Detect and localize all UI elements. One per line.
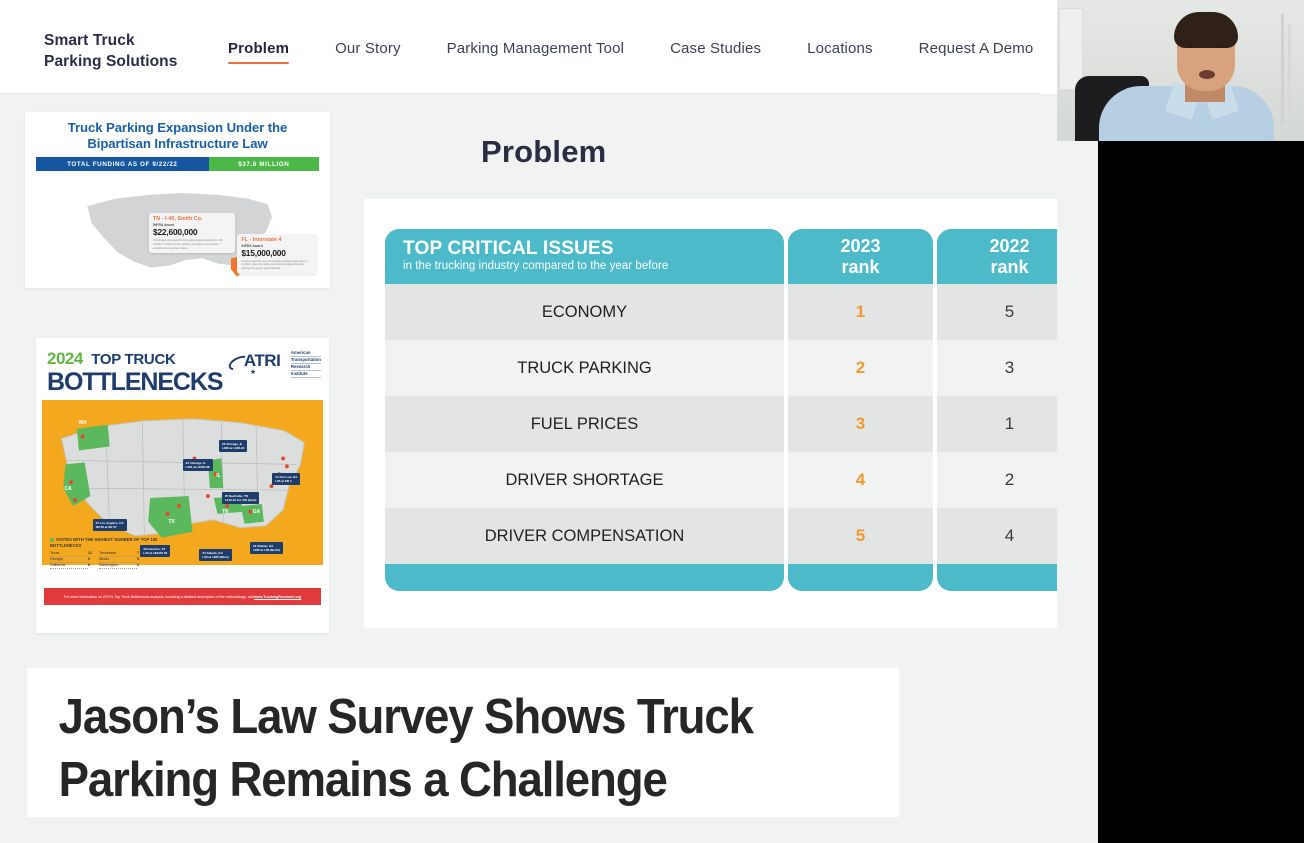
callout-tn-state: TN - I-40, Smith Co. [153, 216, 231, 222]
table-header-title: TOP CRITICAL ISSUES [403, 238, 784, 259]
presenter-mouth [1199, 70, 1215, 79]
legend-count-illinois: 5 [137, 557, 139, 561]
table-row: TRUCK PARKING [385, 340, 784, 396]
header-2023-word: rank [841, 257, 879, 278]
nav-item-parking-management-tool[interactable]: Parking Management Tool [447, 40, 624, 64]
table-row: ECONOMY [385, 284, 784, 340]
pin-6-detail: I-290 at I-90/I-94 [222, 446, 244, 450]
callout-fl-state: FL - Interstate 4 [241, 237, 313, 243]
headline-line-2: Parking Remains a Challenge [59, 749, 812, 812]
brand-line-2: Parking Solutions [44, 51, 177, 72]
infographic-1-title: Truck Parking Expansion Under the Bipart… [35, 120, 320, 151]
black-letterbox-panel [1098, 141, 1304, 843]
pin-7-detail: SR 60 at SR 57 [96, 525, 124, 529]
legend-title-text: STATES WITH THE HIGHEST NUMBER OF TOP 10… [50, 537, 157, 547]
state-label-tn: TN [222, 509, 229, 515]
state-label-tx: TX [168, 519, 174, 525]
atri-org-line-3: Research [291, 364, 321, 371]
page-title: Problem [481, 134, 606, 170]
headline-text: Jason’s Law Survey Shows Truck Parking R… [27, 668, 838, 812]
main-navigation: Problem Our Story Parking Management Too… [228, 40, 1079, 64]
legend-state-washington: Washington [99, 563, 137, 569]
us-map-funding: TN - I-40, Smith Co. INFRA Award $22,600… [35, 175, 320, 288]
critical-issues-table-card: TOP CRITICAL ISSUES in the trucking indu… [364, 199, 1083, 628]
atri-logo: ATRI ★ American Transportation Research … [228, 350, 321, 378]
legend-dot-icon [50, 538, 54, 542]
legend-count-texas: 12 [88, 551, 92, 555]
nav-item-problem[interactable]: Problem [228, 40, 289, 64]
nav-item-case-studies[interactable]: Case Studies [670, 40, 761, 64]
legend-item-washington: Washington4 [99, 563, 139, 569]
atri-org-name: American Transportation Research Institu… [291, 350, 321, 378]
bottlenecks-title-line-1: TOP TRUCK [91, 351, 175, 368]
header-2023-year: 2023 [840, 236, 880, 257]
pin-6-rank: #6 [222, 442, 225, 446]
infographic-2-header: 2024 TOP TRUCK BOTTLENECKS ATRI ★ Americ… [36, 338, 329, 400]
funding-label: TOTAL FUNDING AS OF 9/22/22 [36, 157, 209, 171]
jasons-law-headline-card: Jason’s Law Survey Shows Truck Parking R… [27, 668, 899, 817]
table-row: DRIVER SHORTAGE [385, 452, 784, 508]
bottleneck-pin-2: #2 Atlanta, GA I-285 at I-85 (North) [250, 542, 283, 554]
callout-fl-amount: $15,000,000 [241, 248, 313, 258]
infographic-truck-parking-expansion: Truck Parking Expansion Under the Bipart… [25, 112, 330, 288]
legend-title: STATES WITH THE HIGHEST NUMBER OF TOP 10… [50, 537, 170, 548]
pin-3-detail: I-294 at I-290/I-88 [186, 465, 210, 469]
legend-count-washington: 4 [137, 563, 139, 567]
pin-4-city: Atlanta, GA [206, 551, 222, 555]
callout-tn-body: This project will expand truck parking c… [153, 239, 231, 250]
footer-note-link[interactable]: www.TruckingResearch.org [254, 595, 301, 599]
table-row: FUEL PRICES [385, 396, 784, 452]
table-column-issues: TOP CRITICAL ISSUES in the trucking indu… [385, 229, 784, 591]
bottleneck-pin-7: #7 Los Angeles, CA SR 60 at SR 57 [93, 519, 127, 531]
table-header-rank-2023: 2023 rank [788, 229, 933, 284]
infographic-1-title-line-1: Truck Parking Expansion Under the [35, 120, 320, 136]
legend-count-tennessee: 7 [137, 551, 139, 555]
atri-org-line-2: Transportation [291, 357, 321, 364]
funding-amount: $37.6 MILLION [209, 157, 319, 171]
nav-item-our-story[interactable]: Our Story [335, 40, 401, 64]
bottlenecks-legend: STATES WITH THE HIGHEST NUMBER OF TOP 10… [50, 537, 170, 569]
right-gutter [1057, 141, 1098, 843]
pin-1-city: Fort Lee, NJ [280, 475, 297, 479]
legend-count-california: 8 [88, 563, 90, 567]
legend-column-left: Texas12 Georgia9 California8 [50, 551, 92, 569]
table-cell-rank: 3 [788, 396, 933, 452]
headline-line-1: Jason’s Law Survey Shows Truck [59, 686, 812, 749]
legend-count-georgia: 9 [88, 557, 90, 561]
bottleneck-pin-3: #3 Chicago, IL I-294 at I-290/I-88 [183, 459, 213, 471]
infographic-1-title-line-2: Bipartisan Infrastructure Law [35, 136, 320, 152]
atri-org-line-4: Institute [291, 371, 321, 378]
pin-4-detail: I-20 at I-285 (West) [202, 555, 228, 559]
pin-6-city: Chicago, IL [226, 442, 242, 446]
bottlenecks-footer-note: For more information on ATRI's Top Truck… [44, 588, 321, 605]
callout-fl-body: Funding supports new truck parking facil… [241, 260, 313, 271]
table-header-subtitle: in the trucking industry compared to the… [403, 260, 784, 272]
pin-1-rank: #1 [275, 475, 278, 479]
table-footer-bar-2023 [788, 564, 933, 591]
critical-issues-table: TOP CRITICAL ISSUES in the trucking indu… [385, 229, 1062, 591]
legend-state-california: California [50, 563, 88, 569]
legend-column-right: Tennessee7 Illinois5 Washington4 [99, 551, 139, 569]
callout-tennessee: TN - I-40, Smith Co. INFRA Award $22,600… [149, 213, 235, 253]
infographic-top-truck-bottlenecks: 2024 TOP TRUCK BOTTLENECKS ATRI ★ Americ… [36, 338, 329, 633]
bottleneck-pin-1: #1 Fort Lee, NJ I-95 at SR 4 [272, 473, 300, 485]
pin-1-detail: I-95 at SR 4 [275, 479, 297, 483]
table-cell-rank: 4 [788, 452, 933, 508]
header-2022-year: 2022 [989, 236, 1029, 257]
header-2022-word: rank [990, 257, 1028, 278]
presenter-eye-left [1188, 45, 1195, 48]
nav-item-request-a-demo[interactable]: Request A Demo [919, 40, 1034, 64]
bottleneck-pin-4: #4 Atlanta, GA I-20 at I-285 (West) [199, 549, 231, 561]
state-label-ca: CA [64, 486, 71, 492]
footer-note-text: For more information on ATRI's Top Truck… [64, 595, 254, 599]
table-cell-rank: 2 [788, 340, 933, 396]
table-cell-rank: 5 [788, 508, 933, 564]
wall-rod-decor [1281, 14, 1284, 124]
callout-florida: FL - Interstate 4 INFRA Award $15,000,00… [237, 234, 317, 274]
table-footer-bar-issues [385, 564, 784, 591]
pin-2-detail: I-285 at I-85 (North) [253, 548, 280, 552]
legend-rows: Texas12 Georgia9 California8 Tennessee7 … [50, 551, 170, 569]
table-header-issues: TOP CRITICAL ISSUES in the trucking indu… [385, 229, 784, 284]
presentation-screen: Smart Truck Parking Solutions Problem Ou… [0, 0, 1304, 843]
bottlenecks-year: 2024 [47, 349, 83, 369]
presenter-hair [1174, 12, 1238, 48]
atri-mark-icon: ATRI ★ [228, 350, 288, 374]
site-brand[interactable]: Smart Truck Parking Solutions [44, 30, 177, 72]
table-column-rank-2023: 2023 rank 1 2 3 4 5 [788, 229, 933, 591]
presenter-eye-right [1217, 45, 1224, 48]
bottleneck-pin-5: #5 Nashville, TN I-24/I-40 at I-440 (Eas… [222, 492, 260, 504]
wall-rod-decor-2 [1288, 24, 1291, 124]
state-label-wa: WA [79, 420, 87, 426]
table-cell-rank: 1 [788, 284, 933, 340]
brand-line-1: Smart Truck [44, 32, 135, 49]
bottleneck-pin-6: #6 Chicago, IL I-290 at I-90/I-94 [219, 440, 247, 452]
callout-tn-amount: $22,600,000 [153, 227, 231, 237]
pin-5-detail: I-24/I-40 at I-440 (East) [225, 498, 257, 502]
nav-item-locations[interactable]: Locations [807, 40, 873, 64]
atri-org-line-1: American [291, 350, 321, 357]
state-label-il: IL [216, 473, 220, 479]
infographic-1-funding-bar: TOTAL FUNDING AS OF 9/22/22 $37.6 MILLIO… [36, 157, 319, 171]
legend-item-california: California8 [50, 563, 92, 569]
presenter-video-feed[interactable] [1057, 0, 1304, 141]
wall-frame-decor [1059, 8, 1083, 90]
atri-star-icon: ★ [250, 368, 256, 376]
state-label-ga: GA [253, 509, 261, 515]
table-row: DRIVER COMPENSATION [385, 508, 784, 564]
header-right-fill [1040, 0, 1057, 94]
